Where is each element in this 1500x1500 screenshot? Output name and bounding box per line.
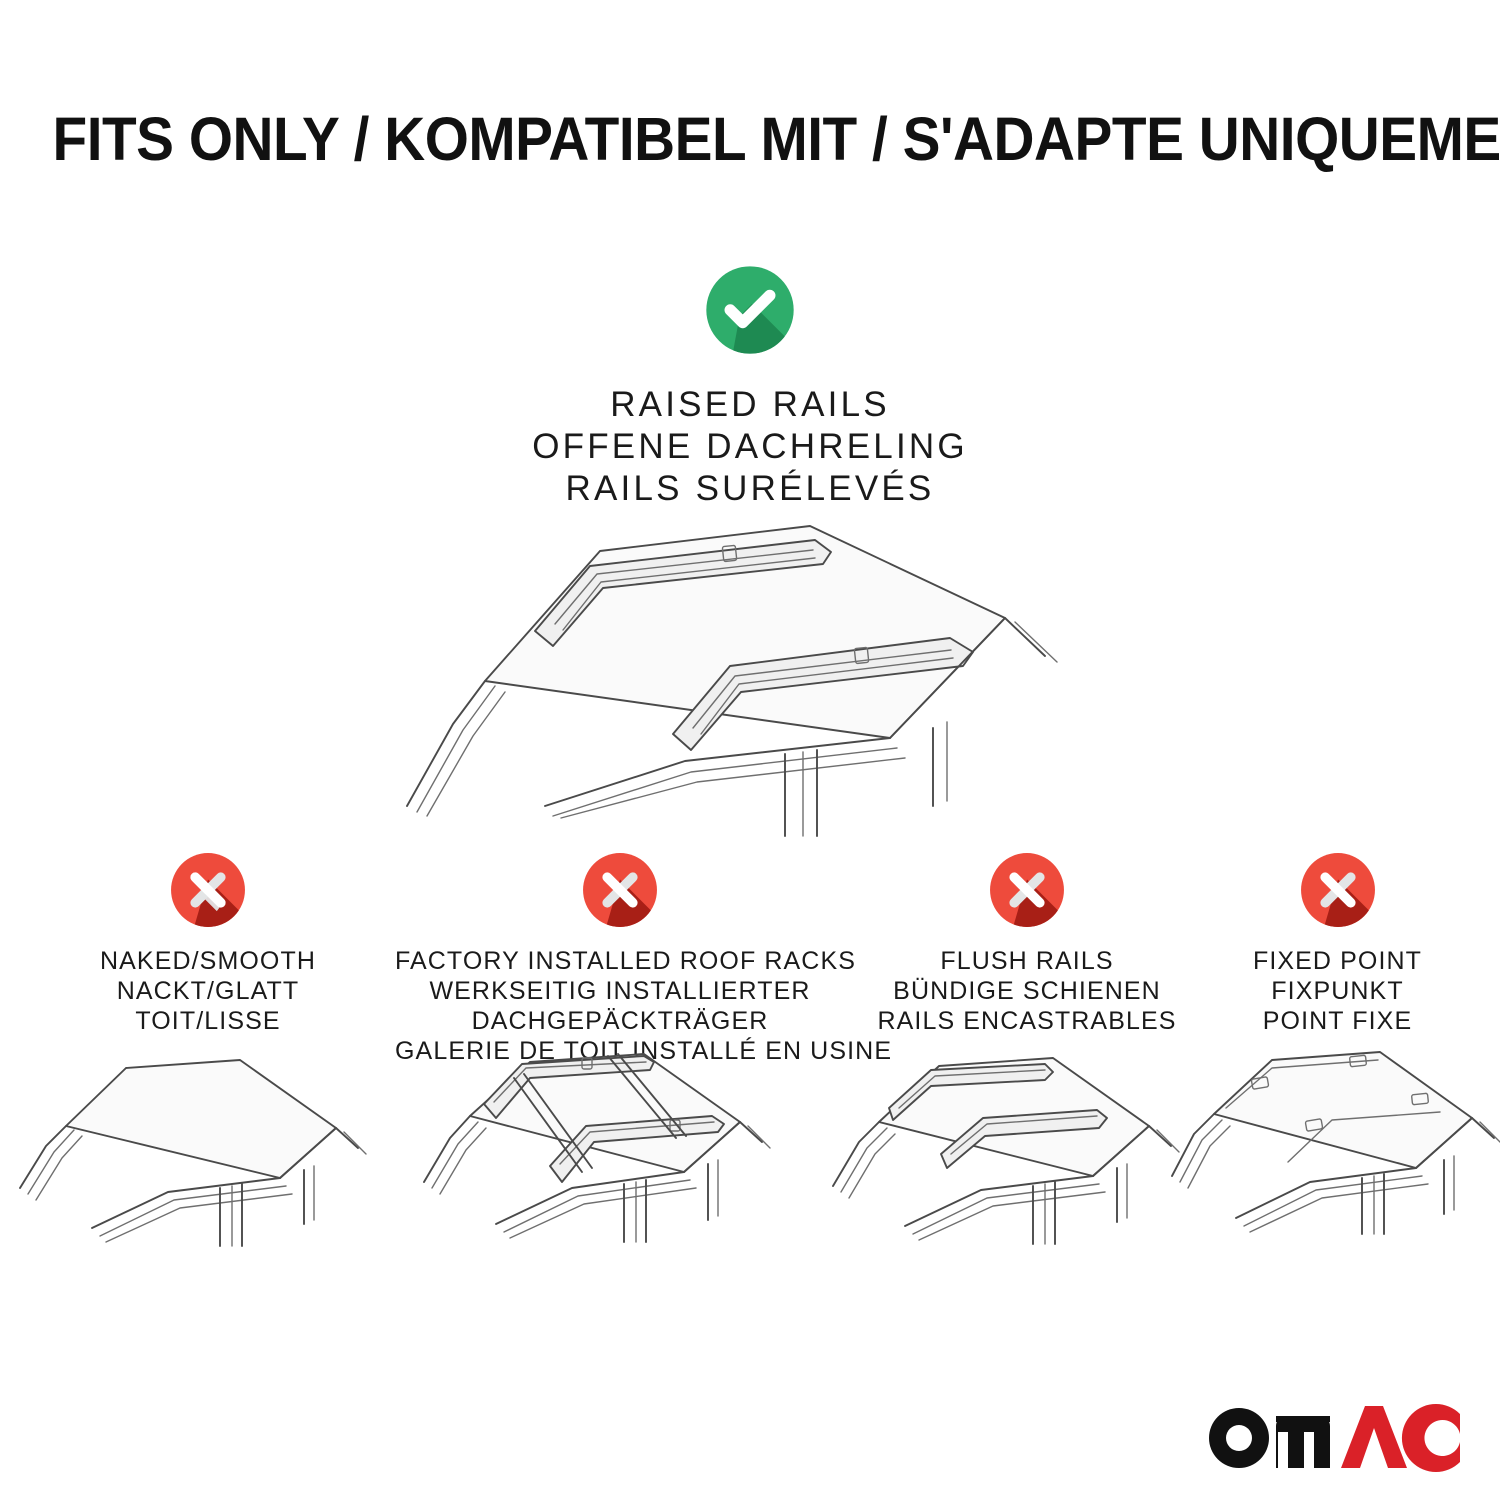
incompatible-item-fixed-point: FIXED POINT FIXPUNKT POINT FIXE [1185,846,1490,1036]
label-group: FLUSH RAILS BÜNDIGE SCHIENEN RAILS ENCAS… [842,946,1212,1036]
car-roof-flush-rails-illustration [831,1042,1211,1272]
x-circle-icon [1294,846,1382,934]
incompatible-label-en: FIXED POINT [1185,946,1490,976]
incompatible-label-fr: TOIT/LISSE [8,1006,408,1036]
omac-logo-letter-c [1402,1404,1460,1472]
incompatible-label-de: NACKT/GLATT [8,976,408,1006]
x-circle-icon [576,846,664,934]
compatible-label-fr: RAILS SURÉLEVÉS [0,468,1500,510]
label-group: FIXED POINT FIXPUNKT POINT FIXE [1185,946,1490,1036]
incompatible-item-naked-smooth: NAKED/SMOOTH NACKT/GLATT TOIT/LISSE [8,846,408,1036]
compatible-labels: RAISED RAILS OFFENE DACHRELING RAILS SUR… [0,384,1500,510]
incompatible-label-en: FACTORY INSTALLED ROOF RACKS [395,946,845,976]
incompatible-label-de-2: DACHGEPÄCKTRÄGER [395,1006,845,1036]
check-circle-icon [698,258,802,362]
compatible-section: RAISED RAILS OFFENE DACHRELING RAILS SUR… [0,258,1500,510]
incompatible-label-fr: RAILS ENCASTRABLES [842,1006,1212,1036]
car-roof-naked-illustration [18,1042,398,1272]
incompatible-section: NAKED/SMOOTH NACKT/GLATT TOIT/LISSE [0,846,1500,1446]
omac-logo [1202,1398,1460,1472]
label-group: NAKED/SMOOTH NACKT/GLATT TOIT/LISSE [8,946,408,1036]
omac-logo-letter-m [1276,1416,1330,1468]
fitment-infographic: FITS ONLY / KOMPATIBEL MIT / S'ADAPTE UN… [0,0,1500,1500]
x-circle-icon [164,846,252,934]
incompatible-item-factory-racks: FACTORY INSTALLED ROOF RACKS WERKSEITIG … [395,846,845,1066]
incompatible-label-de: FIXPUNKT [1185,976,1490,1006]
incompatible-label-fr: POINT FIXE [1185,1006,1490,1036]
incompatible-label-de: BÜNDIGE SCHIENEN [842,976,1212,1006]
incompatible-label-en: FLUSH RAILS [842,946,1212,976]
compatible-label-de: OFFENE DACHRELING [0,426,1500,468]
omac-logo-letter-o [1209,1408,1269,1468]
page-title: FITS ONLY / KOMPATIBEL MIT / S'ADAPTE UN… [53,104,1448,174]
car-roof-factory-racks-illustration [422,1042,802,1272]
incompatible-label-en: NAKED/SMOOTH [8,946,408,976]
car-roof-raised-rails-illustration [385,506,1115,816]
compatible-label-en: RAISED RAILS [0,384,1500,426]
incompatible-label-de-1: WERKSEITIG INSTALLIERTER [395,976,845,1006]
car-roof-fixed-point-illustration [1172,1042,1500,1272]
omac-logo-letter-a [1341,1406,1407,1468]
incompatible-item-flush-rails: FLUSH RAILS BÜNDIGE SCHIENEN RAILS ENCAS… [842,846,1212,1036]
x-circle-icon [983,846,1071,934]
